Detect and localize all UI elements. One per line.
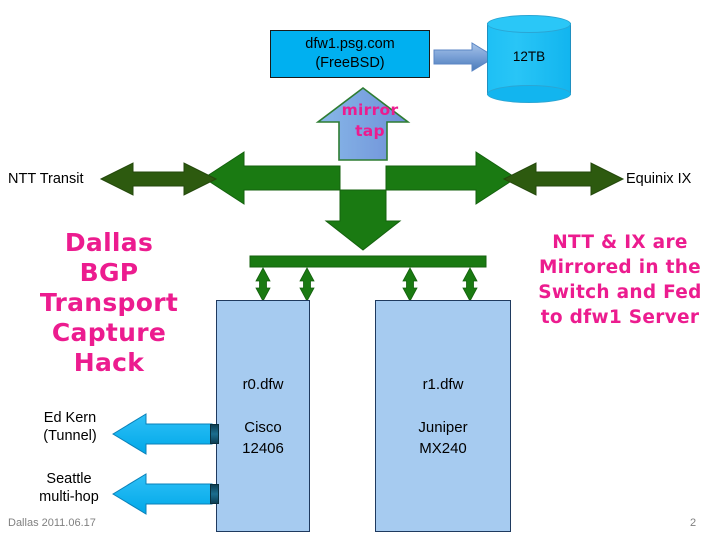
footer-date: Dallas 2011.06.17: [8, 517, 96, 529]
router-r0-model: 12406: [242, 438, 284, 459]
cylinder-top-ellipse: [487, 15, 571, 33]
storage-capacity-label: 12TB: [487, 49, 571, 64]
equinix-ix-arrow: [504, 163, 623, 195]
router-r0-vendor: Cisco: [244, 417, 282, 438]
router-box-r0[interactable]: r0.dfw Cisco 12406: [216, 300, 310, 532]
seattle-line1: Seattle: [28, 470, 110, 488]
right-callout-line4: to dfw1 Server: [522, 305, 718, 330]
right-callout-line3: Switch and Fed: [522, 280, 718, 305]
slide-page-number: 2: [690, 517, 696, 529]
left-callout-line5: Hack: [14, 348, 204, 378]
bus-to-router-arrows: [256, 268, 477, 301]
server-hostname: dfw1.psg.com: [305, 35, 394, 54]
seattle-multihop-label: Seattle multi-hop: [28, 470, 110, 506]
router-box-r1[interactable]: r1.dfw Juniper MX240: [375, 300, 511, 532]
right-callout: NTT & IX are Mirrored in the Switch and …: [522, 230, 718, 330]
ed-kern-tunnel-label: Ed Kern (Tunnel): [34, 409, 106, 445]
mirror-tap-label: mirror tap: [330, 100, 410, 142]
left-callout-line1: Dallas: [14, 228, 204, 258]
mirror-bus-bar: [250, 256, 486, 267]
router-r0-name: r0.dfw: [243, 374, 284, 395]
router-r1-name: r1.dfw: [423, 374, 464, 395]
router-r1-vendor: Juniper: [418, 417, 467, 438]
left-callout-line2: BGP: [14, 258, 204, 288]
switch-mirror-arrow: [204, 152, 516, 250]
server-to-storage-arrow: [434, 43, 495, 71]
storage-cylinder[interactable]: 12TB: [487, 15, 571, 103]
left-callout-line3: Transport: [14, 288, 204, 318]
ntt-transit-arrow: [101, 163, 216, 195]
mirror-tap-line2: tap: [330, 121, 410, 142]
ed-kern-line2: (Tunnel): [34, 427, 106, 445]
ntt-transit-label: NTT Transit: [8, 170, 83, 188]
router-port-nub-tunnel: [210, 424, 219, 444]
left-callout: Dallas BGP Transport Capture Hack: [14, 228, 204, 378]
equinix-ix-label: Equinix IX: [626, 170, 691, 188]
seattle-multihop-arrow: [113, 474, 212, 514]
mirror-tap-line1: mirror: [330, 100, 410, 121]
ed-kern-line1: Ed Kern: [34, 409, 106, 427]
seattle-line2: multi-hop: [28, 488, 110, 506]
left-callout-line4: Capture: [14, 318, 204, 348]
router-r1-model: MX240: [419, 438, 467, 459]
cylinder-bottom-ellipse: [487, 85, 571, 103]
router-port-nub-multihop: [210, 484, 219, 504]
server-os: (FreeBSD): [315, 54, 384, 73]
server-box-dfw1[interactable]: dfw1.psg.com (FreeBSD): [270, 30, 430, 78]
ed-kern-tunnel-arrow: [113, 414, 212, 454]
right-callout-line2: Mirrored in the: [522, 255, 718, 280]
right-callout-line1: NTT & IX are: [522, 230, 718, 255]
slide-canvas: dfw1.psg.com (FreeBSD) 12TB mirror tap N…: [0, 0, 720, 540]
